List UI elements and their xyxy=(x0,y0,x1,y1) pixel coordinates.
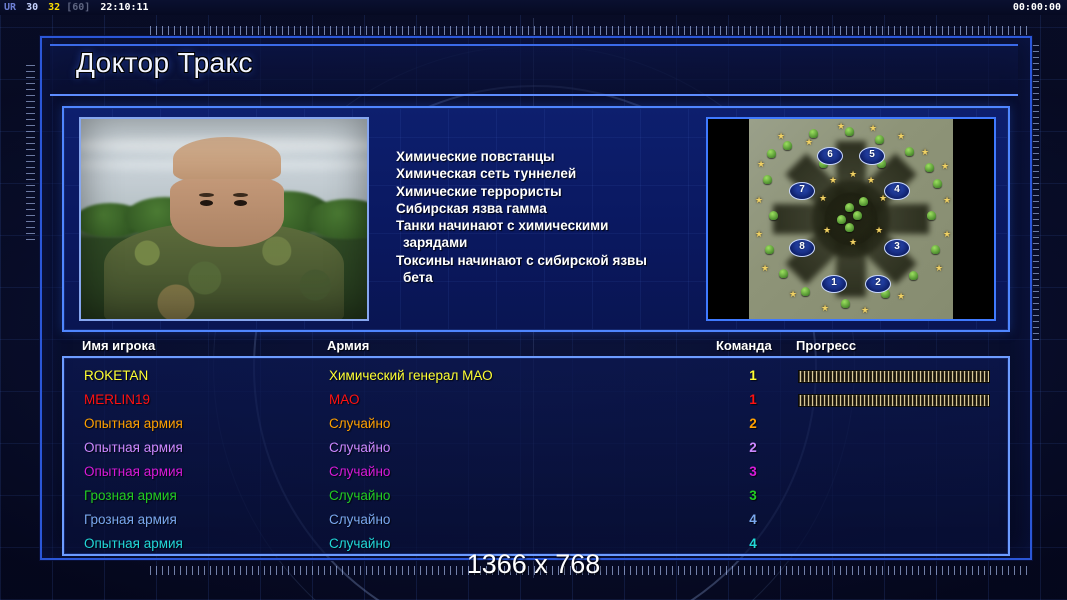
minimap-star-icon: ★ xyxy=(829,177,836,184)
minimap-tree-icon xyxy=(859,197,868,206)
player-progress-bar xyxy=(798,370,990,383)
minimap-start-position-2[interactable]: 2 xyxy=(865,275,891,293)
description-line: Токсины начинают с сибирской язвы xyxy=(396,252,696,269)
commander-portrait xyxy=(79,117,369,321)
player-army[interactable]: Случайно xyxy=(329,436,390,460)
minimap-star-icon: ★ xyxy=(789,291,796,298)
game-lobby-screen: UR 30 32 [60] 22:10:11 00:00:00 Доктор Т… xyxy=(0,0,1067,600)
minimap-start-position-3[interactable]: 3 xyxy=(884,239,910,257)
player-team[interactable]: 3 xyxy=(744,460,762,484)
minimap-tree-icon xyxy=(853,211,862,220)
minimap-star-icon: ★ xyxy=(819,195,826,202)
minimap-star-icon: ★ xyxy=(897,133,904,140)
faction-description: Химические повстанцыХимическая сеть тунн… xyxy=(396,148,696,286)
minimap-tree-icon xyxy=(845,203,854,212)
minimap-star-icon: ★ xyxy=(875,227,882,234)
table-row[interactable]: MERLIN19МАО1 xyxy=(64,388,1008,412)
minimap-star-icon: ★ xyxy=(821,305,828,312)
minimap-star-icon: ★ xyxy=(823,227,830,234)
minimap-star-icon: ★ xyxy=(935,265,942,272)
minimap-star-icon: ★ xyxy=(941,163,948,170)
status-clock: 00:00:00 xyxy=(1013,0,1061,15)
table-row[interactable]: Грозная армияСлучайно3 xyxy=(64,484,1008,508)
table-row[interactable]: Опытная армияСлучайно2 xyxy=(64,412,1008,436)
player-name[interactable]: Грозная армия xyxy=(84,484,177,508)
player-army[interactable]: Случайно xyxy=(329,412,390,436)
minimap-tree-icon xyxy=(931,245,940,254)
minimap-star-icon: ★ xyxy=(879,195,886,202)
minimap-star-icon: ★ xyxy=(897,293,904,300)
minimap-tree-icon xyxy=(927,211,936,220)
column-header-team: Команда xyxy=(716,338,772,353)
minimap-star-icon: ★ xyxy=(805,139,812,146)
player-team[interactable]: 2 xyxy=(744,436,762,460)
minimap-start-position-6[interactable]: 6 xyxy=(817,147,843,165)
minimap-tree-icon xyxy=(845,127,854,136)
description-line: Химическая сеть туннелей xyxy=(396,165,696,182)
minimap-start-position-8[interactable]: 8 xyxy=(789,239,815,257)
minimap-star-icon: ★ xyxy=(921,149,928,156)
minimap-tree-icon xyxy=(783,141,792,150)
description-line: Сибирская язва гамма xyxy=(396,200,696,217)
minimap-star-icon: ★ xyxy=(943,197,950,204)
minimap-tree-icon xyxy=(909,271,918,280)
minimap-star-icon: ★ xyxy=(869,125,876,132)
player-table: ROKETANХимический генерал МАО1MERLIN19МА… xyxy=(62,356,1010,556)
minimap-star-icon: ★ xyxy=(761,265,768,272)
minimap-tree-icon xyxy=(933,179,942,188)
resolution-label: 1366 x 768 xyxy=(0,549,1067,580)
table-row[interactable]: Опытная армияСлучайно3 xyxy=(64,460,1008,484)
player-team[interactable]: 3 xyxy=(744,484,762,508)
minimap-start-position-4[interactable]: 4 xyxy=(884,182,910,200)
column-header-army: Армия xyxy=(327,338,369,353)
player-name[interactable]: Опытная армия xyxy=(84,460,183,484)
description-line: зарядами xyxy=(396,234,696,251)
player-name[interactable]: ROKETAN xyxy=(84,364,148,388)
minimap-star-icon: ★ xyxy=(757,161,764,168)
status-value-3: [60] xyxy=(66,2,90,13)
minimap-tree-icon xyxy=(779,269,788,278)
player-name[interactable]: Грозная армия xyxy=(84,508,177,532)
minimap-star-icon: ★ xyxy=(867,177,874,184)
player-team[interactable]: 4 xyxy=(744,508,762,532)
player-team[interactable]: 1 xyxy=(744,364,762,388)
minimap-tree-icon xyxy=(845,223,854,232)
player-progress-bar xyxy=(798,394,990,407)
table-row[interactable]: Опытная армияСлучайно2 xyxy=(64,436,1008,460)
minimap-star-icon: ★ xyxy=(837,123,844,130)
minimap-star-icon: ★ xyxy=(755,197,762,204)
player-army[interactable]: Химический генерал МАО xyxy=(329,364,493,388)
ruler-tick-top xyxy=(150,26,1030,35)
minimap-start-position-5[interactable]: 5 xyxy=(859,147,885,165)
minimap-start-position-7[interactable]: 7 xyxy=(789,182,815,200)
column-header-progress: Прогресс xyxy=(796,338,856,353)
player-army[interactable]: Случайно xyxy=(329,460,390,484)
player-army[interactable]: Случайно xyxy=(329,508,390,532)
minimap-star-icon: ★ xyxy=(777,133,784,140)
player-army[interactable]: МАО xyxy=(329,388,359,412)
top-status-bar: UR 30 32 [60] 22:10:11 00:00:00 xyxy=(0,0,1067,15)
table-row[interactable]: ROKETANХимический генерал МАО1 xyxy=(64,364,1008,388)
player-name[interactable]: Опытная армия xyxy=(84,412,183,436)
player-name[interactable]: Опытная армия xyxy=(84,436,183,460)
ruler-tick-left xyxy=(26,60,35,240)
minimap-tree-icon xyxy=(837,215,846,224)
minimap-star-icon: ★ xyxy=(755,231,762,238)
status-value-2: 32 xyxy=(44,2,60,13)
description-line: Танки начинают с химическими xyxy=(396,217,696,234)
minimap-tree-icon xyxy=(767,149,776,158)
minimap-tree-icon xyxy=(763,175,772,184)
minimap-start-position-1[interactable]: 1 xyxy=(821,275,847,293)
minimap-star-icon: ★ xyxy=(861,307,868,314)
description-line: Химические террористы xyxy=(396,183,696,200)
description-line: Химические повстанцы xyxy=(396,148,696,165)
minimap-star-icon: ★ xyxy=(849,239,856,246)
status-label-ur: UR xyxy=(0,2,16,13)
portrait-vignette xyxy=(81,119,367,319)
page-title: Доктор Тракс xyxy=(76,47,253,79)
status-time: 22:10:11 xyxy=(96,2,148,13)
player-table-header: Имя игрока Армия Команда Прогресс xyxy=(62,338,1006,356)
player-team[interactable]: 2 xyxy=(744,412,762,436)
minimap-tree-icon xyxy=(905,147,914,156)
minimap-tree-icon xyxy=(841,299,850,308)
minimap-tree-icon xyxy=(769,211,778,220)
minimap-tree-icon xyxy=(801,287,810,296)
column-header-player-name: Имя игрока xyxy=(82,338,155,353)
minimap-tree-icon xyxy=(875,135,884,144)
minimap[interactable]: ★★★★★★★★★★★★★★★★★★★★★★★★★★12345678 xyxy=(706,117,996,321)
status-value-1: 30 xyxy=(22,2,38,13)
minimap-tree-icon xyxy=(765,245,774,254)
minimap-star-icon: ★ xyxy=(849,171,856,178)
player-team[interactable]: 1 xyxy=(744,388,762,412)
table-row[interactable]: Грозная армияСлучайно4 xyxy=(64,508,1008,532)
minimap-star-icon: ★ xyxy=(943,231,950,238)
player-army[interactable]: Случайно xyxy=(329,484,390,508)
minimap-terrain: ★★★★★★★★★★★★★★★★★★★★★★★★★★12345678 xyxy=(749,119,953,319)
description-line: бета xyxy=(396,269,696,286)
minimap-tree-icon xyxy=(925,163,934,172)
player-name[interactable]: MERLIN19 xyxy=(84,388,150,412)
